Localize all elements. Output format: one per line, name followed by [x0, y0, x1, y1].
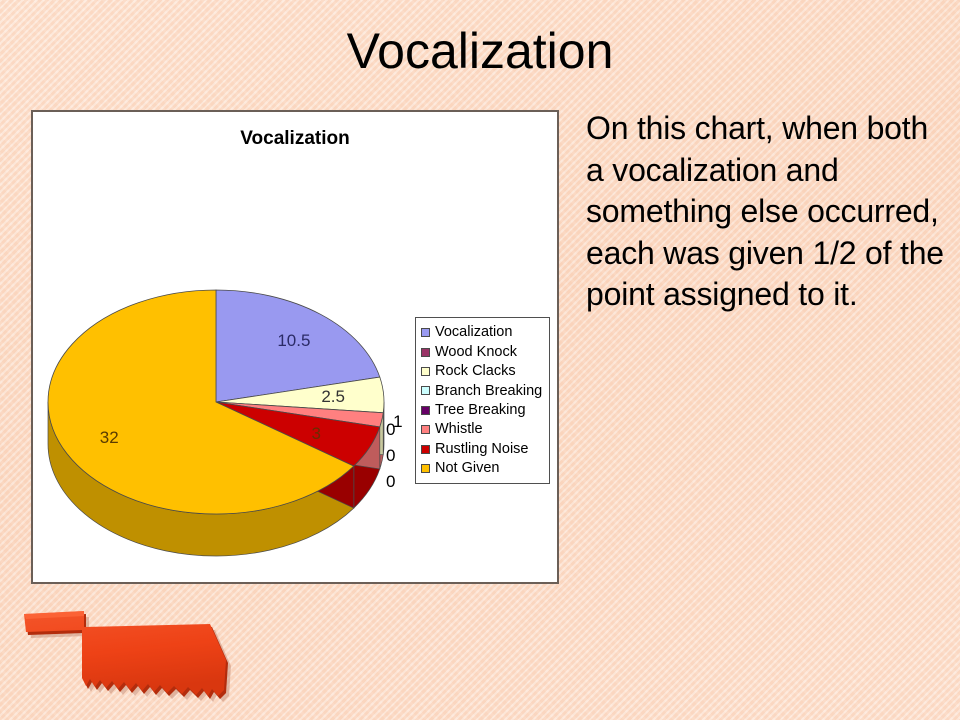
legend-swatch-icon: [421, 445, 430, 454]
pie-chart: 10.502.5001332: [41, 242, 421, 572]
oklahoma-state-shape: [12, 594, 242, 714]
legend-swatch-icon: [421, 425, 430, 434]
legend-label: Rustling Noise: [435, 442, 529, 457]
legend-label: Branch Breaking: [435, 384, 542, 399]
slide-title: Vocalization: [0, 26, 960, 76]
legend-swatch-icon: [421, 386, 430, 395]
legend-label: Tree Breaking: [435, 403, 526, 418]
legend-label: Wood Knock: [435, 345, 517, 360]
body-text: On this chart, when both a vocalization …: [586, 108, 946, 316]
pie-geometry: [48, 290, 384, 556]
legend-label: Whistle: [435, 422, 483, 437]
legend-item: Rustling Noise: [421, 439, 542, 458]
legend-item: Branch Breaking: [421, 381, 542, 400]
chart-title: Vocalization: [33, 128, 557, 150]
legend-swatch-icon: [421, 406, 430, 415]
legend-item: Tree Breaking: [421, 401, 542, 420]
pie-chart-svg: [41, 242, 421, 572]
legend-item: Vocalization: [421, 323, 542, 342]
legend-item: Not Given: [421, 459, 542, 478]
legend-swatch-icon: [421, 464, 430, 473]
legend-label: Not Given: [435, 461, 499, 476]
legend-item: Rock Clacks: [421, 362, 542, 381]
legend-label: Vocalization: [435, 325, 512, 340]
legend-swatch-icon: [421, 367, 430, 376]
legend-label: Rock Clacks: [435, 364, 516, 379]
legend-item: Wood Knock: [421, 342, 542, 361]
chart-legend: VocalizationWood KnockRock ClacksBranch …: [415, 317, 550, 484]
legend-item: Whistle: [421, 420, 542, 439]
chart-panel: Vocalization 10.502.5001332 Vocalization…: [31, 110, 559, 584]
oklahoma-body: [24, 611, 226, 696]
legend-swatch-icon: [421, 348, 430, 357]
slide: Vocalization Vocalization 10.502.5001332…: [0, 0, 960, 720]
legend-swatch-icon: [421, 328, 430, 337]
